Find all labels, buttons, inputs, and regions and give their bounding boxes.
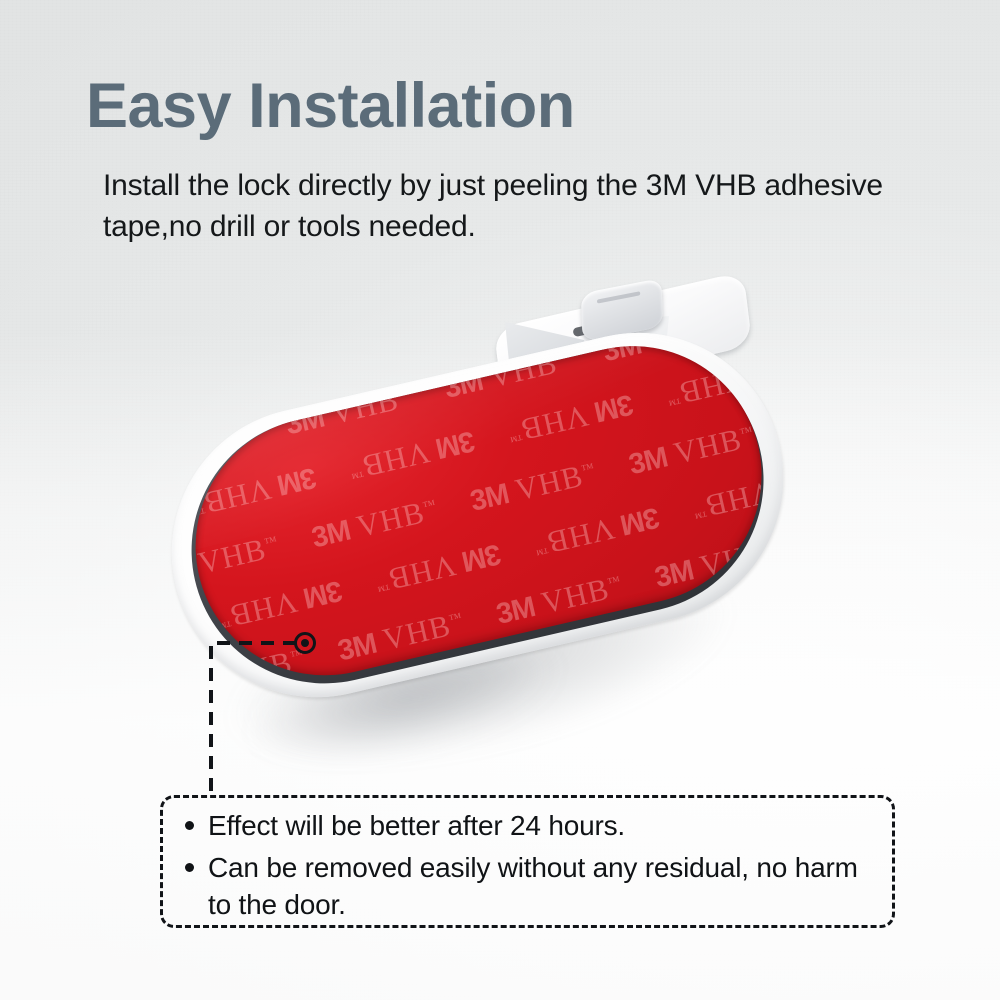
tip-text: Can be removed easily without any residu… (208, 850, 878, 923)
tips-callout-box: Effect will be better after 24 hours. Ca… (160, 795, 895, 928)
leader-polyline (211, 643, 296, 795)
bullet-dot-icon (185, 821, 194, 830)
leader-anchor-dot (301, 639, 309, 647)
tip-text: Effect will be better after 24 hours. (208, 808, 625, 844)
list-item: Effect will be better after 24 hours. (185, 808, 878, 844)
list-item: Can be removed easily without any residu… (185, 850, 878, 923)
tips-list: Effect will be better after 24 hours. Ca… (185, 808, 878, 929)
bullet-dot-icon (185, 863, 194, 872)
